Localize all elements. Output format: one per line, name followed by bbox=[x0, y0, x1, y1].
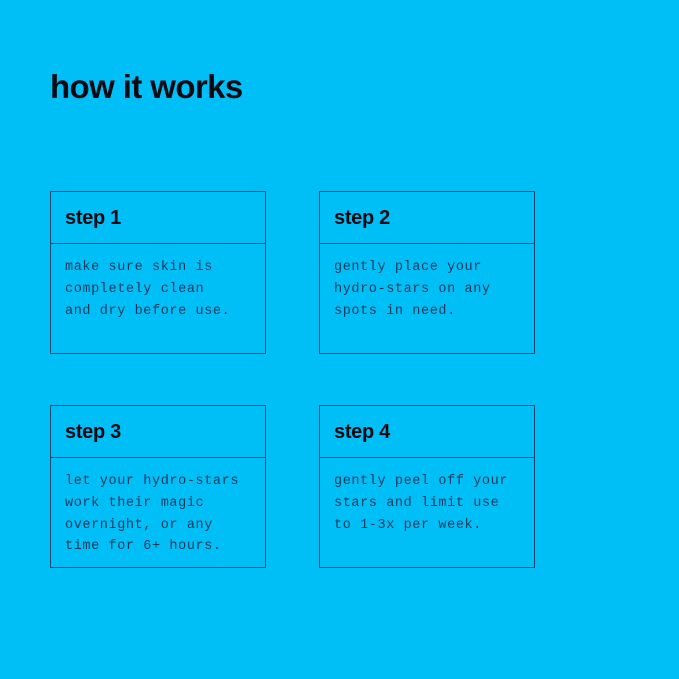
step-card-header-label-1: step 1 bbox=[65, 207, 121, 229]
step-body-line: stars and limit use bbox=[334, 493, 524, 515]
step-card-body-2: gently place your hydro-stars on any spo… bbox=[320, 244, 534, 353]
step-card-4: step 4 gently peel off your stars and li… bbox=[319, 405, 535, 568]
how-it-works-page: how it works step 1 make sure skin is co… bbox=[0, 0, 679, 679]
step-body-line: let your hydro-stars bbox=[65, 471, 255, 493]
step-card-1: step 1 make sure skin is completely clea… bbox=[50, 191, 266, 354]
step-body-line: make sure skin is bbox=[65, 257, 255, 279]
step-body-line: spots in need. bbox=[334, 301, 524, 323]
step-body-line: completely clean bbox=[65, 279, 255, 301]
step-card-body-3: let your hydro-stars work their magic ov… bbox=[51, 458, 265, 567]
step-card-header-1: step 1 bbox=[51, 192, 265, 244]
step-body-line: gently place your bbox=[334, 257, 524, 279]
step-card-header-3: step 3 bbox=[51, 406, 265, 458]
page-title: how it works bbox=[50, 67, 243, 107]
step-body-line: and dry before use. bbox=[65, 301, 255, 323]
step-card-header-2: step 2 bbox=[320, 192, 534, 244]
step-body-line: gently peel off your bbox=[334, 471, 524, 493]
step-card-header-label-3: step 3 bbox=[65, 421, 121, 443]
step-body-line: hydro-stars on any bbox=[334, 279, 524, 301]
step-card-3: step 3 let your hydro-stars work their m… bbox=[50, 405, 266, 568]
step-body-line: time for 6+ hours. bbox=[65, 536, 255, 558]
step-card-body-4: gently peel off your stars and limit use… bbox=[320, 458, 534, 567]
step-body-line: work their magic bbox=[65, 493, 255, 515]
step-card-header-4: step 4 bbox=[320, 406, 534, 458]
step-card-header-label-2: step 2 bbox=[334, 207, 390, 229]
step-card-header-label-4: step 4 bbox=[334, 421, 390, 443]
step-card-2: step 2 gently place your hydro-stars on … bbox=[319, 191, 535, 354]
step-body-line: overnight, or any bbox=[65, 515, 255, 537]
step-body-line: to 1-3x per week. bbox=[334, 515, 524, 537]
step-card-body-1: make sure skin is completely clean and d… bbox=[51, 244, 265, 353]
steps-grid: step 1 make sure skin is completely clea… bbox=[50, 191, 535, 568]
